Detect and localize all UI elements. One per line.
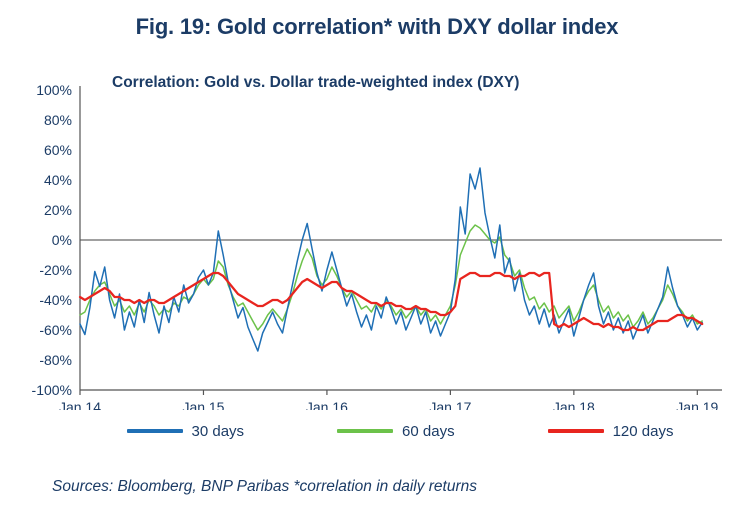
legend-label-30-days: 30 days [192,423,245,440]
x-axis-tick-label: Jan 18 [553,399,595,410]
legend-swatch-120-days [548,429,604,433]
y-axis-tick-label: -20% [39,262,72,278]
chart-plot-area: 100%80%60%40%20%0%-20%-40%-60%-80%-100%J… [0,60,754,410]
y-axis-tick-label: 20% [44,202,72,218]
x-axis-tick-label: Jan 19 [676,399,718,410]
legend-swatch-30-days [127,429,183,433]
y-axis-tick-label: -100% [32,382,72,398]
legend-item-30-days: 30 days [127,423,245,440]
legend-swatch-60-days [337,429,393,433]
y-axis-tick-label: -80% [39,352,72,368]
legend-item-60-days: 60 days [337,423,455,440]
x-axis-tick-label: Jan 17 [429,399,471,410]
y-axis-tick-label: 100% [36,82,72,98]
y-axis-tick-label: 80% [44,112,72,128]
y-axis-tick-label: 60% [44,142,72,158]
y-axis-tick-label: -60% [39,322,72,338]
figure-title: Fig. 19: Gold correlation* with DXY doll… [0,14,754,40]
y-axis-tick-label: 0% [52,232,72,248]
y-axis-tick-label: -40% [39,292,72,308]
legend-label-120-days: 120 days [613,423,674,440]
x-axis-tick-label: Jan 15 [182,399,224,410]
y-axis-tick-label: 40% [44,172,72,188]
sources-note: Sources: Bloomberg, BNP Paribas *correla… [52,478,477,496]
x-axis-tick-label: Jan 16 [306,399,348,410]
figure-container: Fig. 19: Gold correlation* with DXY doll… [0,0,754,514]
legend-item-120-days: 120 days [548,423,674,440]
chart-svg: 100%80%60%40%20%0%-20%-40%-60%-80%-100%J… [0,60,754,410]
chart-legend: 30 days 60 days 120 days [80,418,720,444]
legend-label-60-days: 60 days [402,423,455,440]
x-axis-tick-label: Jan 14 [59,399,101,410]
